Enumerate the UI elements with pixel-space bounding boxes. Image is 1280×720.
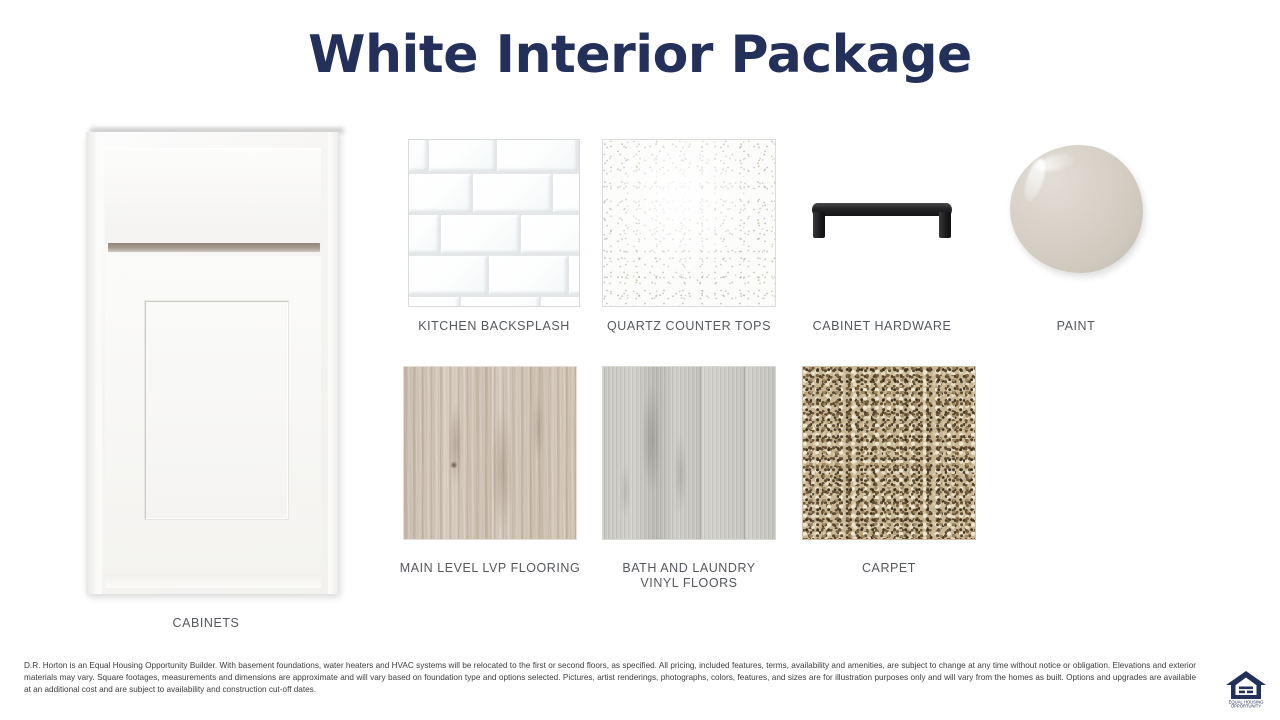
swatch-cabinets[interactable] bbox=[86, 128, 344, 598]
pull-handle-bar bbox=[812, 203, 952, 216]
disclaimer-text: D.R. Horton is an Equal Housing Opportun… bbox=[24, 660, 1196, 697]
swatch-label-cabinet-hardware: CABINET HARDWARE bbox=[795, 319, 969, 334]
cabinet-right-stile bbox=[328, 132, 338, 594]
swatch-label-paint: PAINT bbox=[996, 319, 1156, 334]
pull-handle-leg-left bbox=[813, 212, 825, 238]
quartz-sheen bbox=[603, 140, 775, 306]
swatch-quartz-counter-tops[interactable] bbox=[602, 139, 776, 307]
page-title: White Interior Package bbox=[0, 24, 1280, 86]
swatch-label-carpet: CARPET bbox=[802, 561, 976, 576]
lvp-wood-grain bbox=[404, 367, 576, 539]
cabinet-shaker-panel bbox=[145, 301, 288, 519]
swatch-paint[interactable] bbox=[1010, 145, 1143, 273]
swatch-label-kitchen-backsplash: KITCHEN BACKSPLASH bbox=[408, 319, 580, 334]
swatch-bath-laundry-vinyl[interactable] bbox=[602, 366, 776, 540]
swatch-label-main-level-lvp: MAIN LEVEL LVP FLOORING bbox=[390, 561, 590, 576]
cabinet-reveal-gap bbox=[108, 243, 320, 252]
cabinet-door-sample bbox=[86, 132, 338, 594]
swatch-main-level-lvp[interactable] bbox=[403, 366, 577, 540]
swatch-cabinet-hardware[interactable] bbox=[812, 196, 952, 240]
swatch-carpet[interactable] bbox=[802, 366, 976, 540]
vinyl-wood-grain bbox=[603, 367, 775, 539]
swatch-label-bath-laundry-vinyl-line2: VINYL FLOORS bbox=[600, 576, 778, 591]
equal-housing-opportunity-logo: EQUAL HOUSING OPPORTUNITY bbox=[1224, 668, 1268, 708]
cabinet-door-face bbox=[105, 256, 321, 576]
cabinet-left-stile bbox=[86, 132, 102, 594]
eho-logo-line2: OPPORTUNITY bbox=[1231, 703, 1261, 708]
swatch-label-cabinets: CABINETS bbox=[126, 616, 286, 631]
swatch-label-bath-laundry-vinyl-line1: BATH AND LAUNDRY bbox=[600, 561, 778, 576]
swatch-label-quartz-counter-tops: QUARTZ COUNTER TOPS bbox=[602, 319, 776, 334]
swatch-kitchen-backsplash[interactable] bbox=[408, 139, 580, 307]
pull-handle-leg-right bbox=[939, 212, 951, 238]
cabinet-drawer-face bbox=[105, 148, 321, 243]
cabinet-bottom-rail bbox=[105, 574, 321, 588]
